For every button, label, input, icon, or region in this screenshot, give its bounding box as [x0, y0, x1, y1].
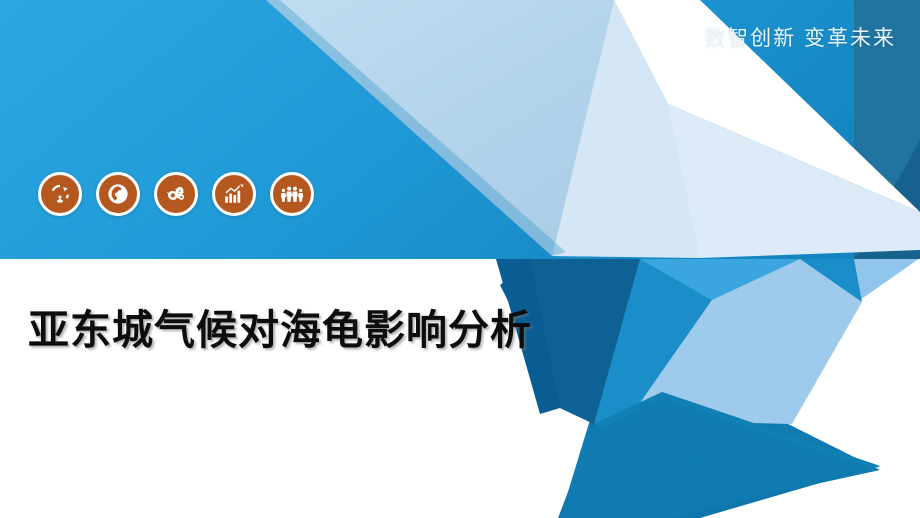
icon-badge-people-group[interactable]: [270, 172, 314, 216]
recycle-growth-icon: [48, 182, 72, 206]
background-artwork: [0, 0, 920, 518]
people-group-icon: [280, 182, 304, 206]
presentation-cover-slide: 数智创新 变革未来: [0, 0, 920, 518]
icon-badge-recycle-growth[interactable]: [38, 172, 82, 216]
globe-icon: [106, 182, 130, 206]
tagline: 数智创新 变革未来: [704, 26, 896, 51]
composition-final: [0, 0, 920, 518]
page-title: 亚东城气候对海龟影响分析: [28, 296, 532, 356]
bar-chart-icon: [222, 182, 246, 206]
gears-icon: [164, 182, 188, 206]
icon-badge-bar-chart[interactable]: [212, 172, 256, 216]
icon-row: [38, 172, 314, 216]
icon-badge-globe[interactable]: [96, 172, 140, 216]
icon-badge-gears[interactable]: [154, 172, 198, 216]
